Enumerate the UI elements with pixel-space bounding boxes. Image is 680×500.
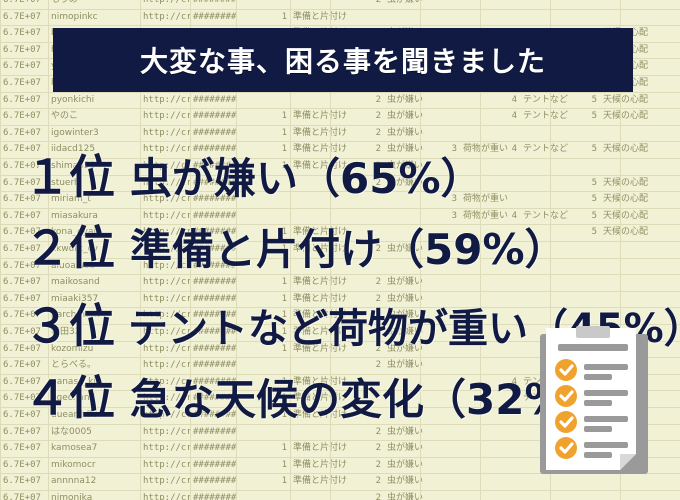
ranking-number-3: ３位 [24,290,114,356]
spreadsheet-column-divider [0,0,1,500]
ranking-number-2: ２位 [24,212,114,278]
ranking-item-1: １位 虫が嫌い（65%） [24,141,483,207]
ranking-label-1: 虫が嫌い（65%） [130,145,483,206]
checklist-clipboard-svg [536,326,652,478]
title-banner: 大変な事、困る事を聞きました [53,28,633,92]
ranking-item-2: ２位 準備と片付け（59%） [24,212,567,278]
page-title: 大変な事、困る事を聞きました [140,40,546,80]
ranking-label-2: 準備と片付け（59%） [130,216,567,277]
ranking-number-1: １位 [24,141,114,207]
checklist-clipboard-icon [536,326,652,478]
ranking-item-4: ４位 急な天候の変化（32%） [24,362,609,428]
ranking-number-4: ４位 [24,362,114,428]
slide-canvas: 6.7E+07もうめhttp://cro########2虫が嫌い6.7E+07… [0,0,680,500]
